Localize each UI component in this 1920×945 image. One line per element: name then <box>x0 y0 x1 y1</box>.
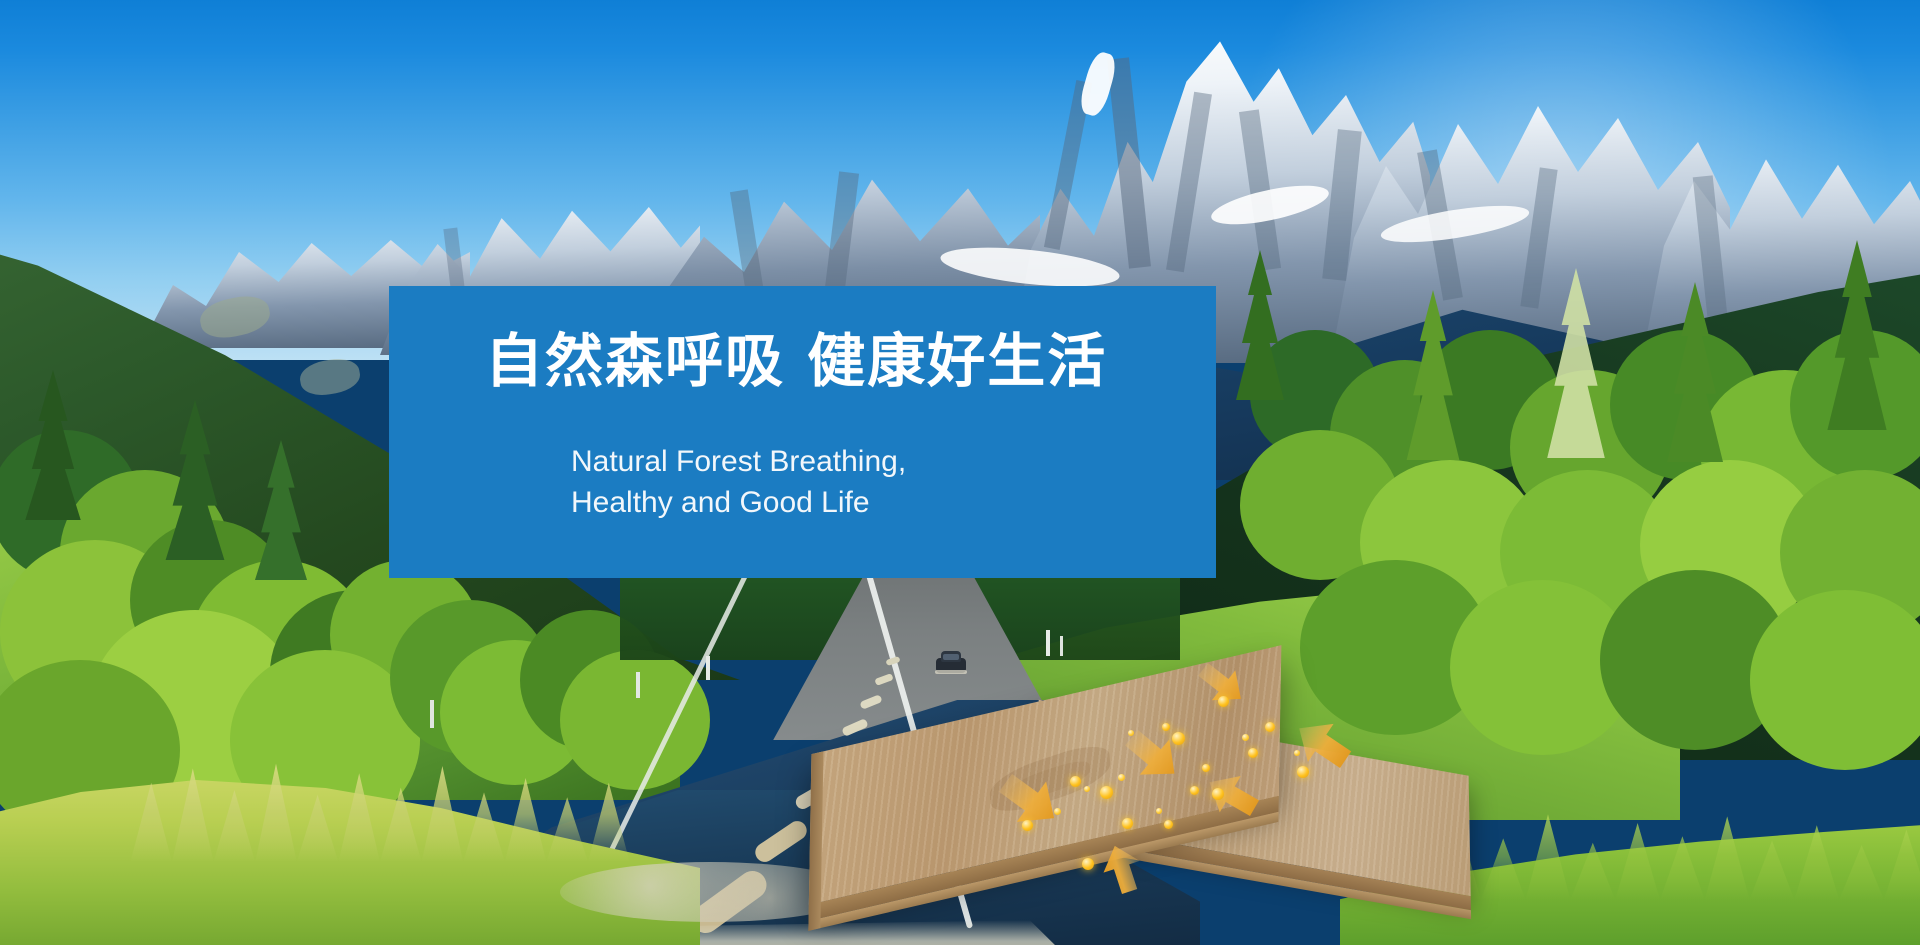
page-title: 自然森呼吸 健康好生活 <box>485 331 1107 392</box>
ion-particle <box>1118 774 1125 781</box>
airflow-arrows <box>950 668 1470 945</box>
wood-flooring-planks <box>950 668 1470 945</box>
ion-particle <box>1128 730 1134 736</box>
ion-particle <box>1070 776 1081 787</box>
page-subtitle: Natural Forest Breathing, Healthy and Go… <box>571 441 906 524</box>
roadside-post <box>1046 630 1050 656</box>
ion-particle <box>1218 696 1229 707</box>
ion-particle <box>1022 820 1033 831</box>
ion-particle <box>1297 766 1309 778</box>
ion-particle <box>1162 723 1170 731</box>
ion-particle <box>1212 788 1224 800</box>
hero-text-panel: 自然森呼吸 健康好生活 Natural Forest Breathing, He… <box>389 286 1216 578</box>
ion-particle <box>1156 808 1162 814</box>
airflow-arrow-up <box>1097 840 1148 897</box>
ion-particle <box>1172 732 1185 745</box>
ion-particle <box>1164 820 1173 829</box>
ion-particle <box>1265 722 1275 732</box>
airflow-arrow-up <box>1199 764 1265 826</box>
ion-particle <box>1082 858 1094 870</box>
roadside-post <box>706 656 710 680</box>
ion-particle <box>1202 764 1210 772</box>
ion-particle <box>1122 818 1133 829</box>
roadside-post <box>430 700 434 728</box>
ion-particle <box>1242 734 1249 741</box>
hero-banner: 自然森呼吸 健康好生活 Natural Forest Breathing, He… <box>0 0 1920 945</box>
roadside-post <box>636 672 640 698</box>
ion-particle <box>1100 786 1113 799</box>
ion-particle <box>1054 808 1061 815</box>
ion-particle <box>1084 786 1090 792</box>
roadside-post <box>1060 636 1063 656</box>
ion-particle <box>1190 786 1199 795</box>
ion-particle <box>1248 748 1258 758</box>
ion-particle <box>1294 750 1300 756</box>
